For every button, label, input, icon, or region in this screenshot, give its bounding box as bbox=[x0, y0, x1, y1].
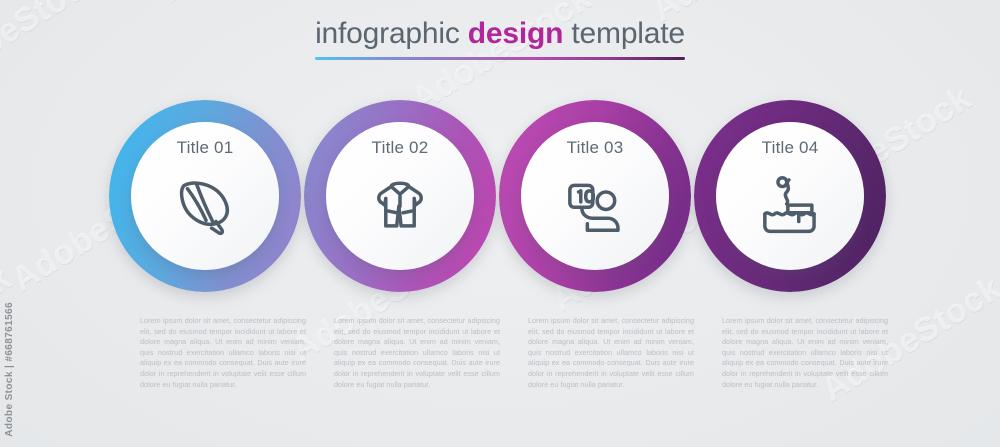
step-description-2: Lorem ipsum dolor sit amet, consectetur … bbox=[334, 316, 500, 390]
header: infographic design template bbox=[0, 17, 1000, 60]
title-gradient-rule bbox=[315, 57, 685, 60]
step-label-2: Title 02 bbox=[372, 138, 429, 158]
page-title-part1: infographic bbox=[315, 17, 468, 50]
step-description-4: Lorem ipsum dolor sit amet, consectetur … bbox=[722, 316, 888, 390]
step-description-1: Lorem ipsum dolor sit amet, consectetur … bbox=[140, 316, 306, 390]
stock-credit: Adobe Stock | #668761566 bbox=[4, 302, 15, 437]
step-disc-3: Title 03 bbox=[521, 122, 669, 270]
step-item-4[interactable]: Title 04 bbox=[694, 100, 886, 292]
step-descriptions: Lorem ipsum dolor sit amet, consectetur … bbox=[0, 316, 1000, 426]
step-item-2[interactable]: Title 02 bbox=[304, 100, 496, 292]
step-item-1[interactable]: Title 01 bbox=[109, 100, 301, 292]
step-description-3: Lorem ipsum dolor sit amet, consectetur … bbox=[528, 316, 694, 390]
step-disc-4: Title 04 bbox=[716, 122, 864, 270]
step-item-3[interactable]: Title 03 bbox=[499, 100, 691, 292]
step-label-4: Title 04 bbox=[762, 138, 819, 158]
judge-scorecard-icon bbox=[557, 166, 633, 242]
step-disc-2: Title 02 bbox=[326, 122, 474, 270]
step-label-1: Title 01 bbox=[177, 138, 234, 158]
page-title-accent: design bbox=[468, 17, 563, 50]
swimming-pool-diving-board-icon bbox=[752, 166, 828, 242]
step-disc-1: Title 01 bbox=[131, 122, 279, 270]
step-label-3: Title 03 bbox=[567, 138, 624, 158]
page-title: infographic design template bbox=[315, 17, 685, 51]
surfboard-icon bbox=[167, 166, 243, 242]
page-title-part2: template bbox=[563, 17, 685, 50]
infographic-canvas: AdobeStock AdobeStock AdobeStock AdobeSt… bbox=[0, 0, 1000, 447]
wetsuit-icon bbox=[362, 166, 438, 242]
